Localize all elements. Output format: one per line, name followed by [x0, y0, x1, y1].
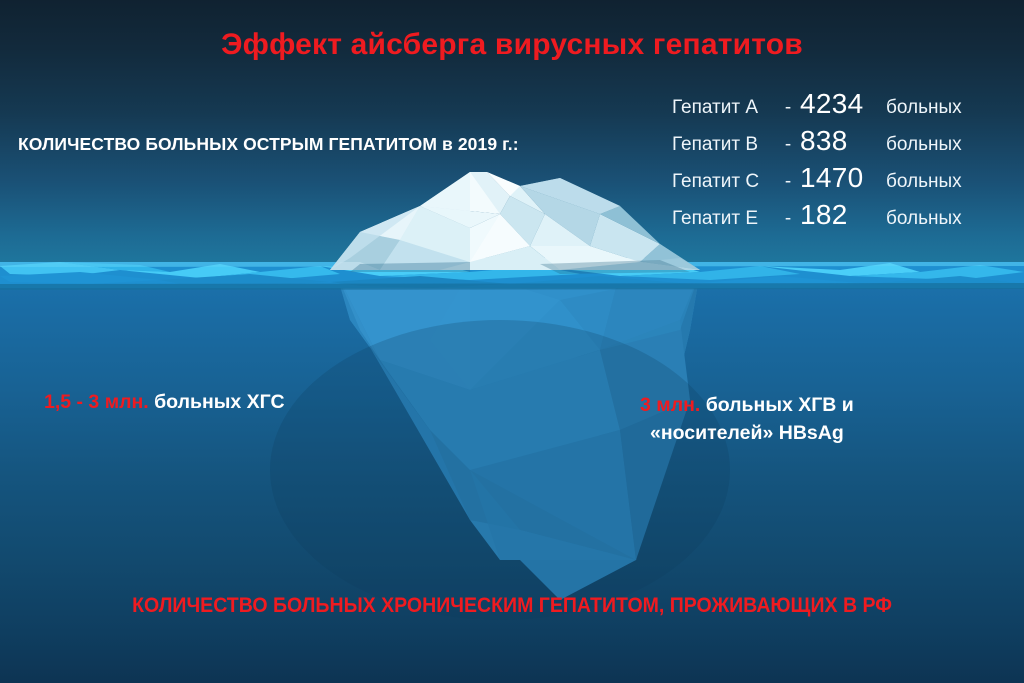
slide-root: Эффект айсберга вирусных гепатитов КОЛИЧ… — [0, 0, 1024, 683]
stat-dash: - — [776, 134, 800, 156]
chb-highlight: 3 млн. — [640, 394, 700, 416]
stat-unit: больных — [886, 97, 962, 119]
stat-dash: - — [776, 208, 800, 230]
chb-text-line2: «носителей» HBsAg — [640, 419, 854, 447]
iceberg-tip — [330, 172, 700, 274]
chc-highlight: 1,5 - 3 млн. — [44, 391, 149, 413]
stat-name: Гепатит А — [672, 97, 776, 119]
stat-row-hepatitis-e: Гепатит Е - 182 больных — [672, 199, 1012, 236]
stat-unit: больных — [886, 208, 962, 230]
stat-value: 182 — [800, 199, 886, 231]
stat-row-hepatitis-a: Гепатит А - 4234 больных — [672, 88, 1012, 125]
acute-hepatitis-label: КОЛИЧЕСТВО БОЛЬНЫХ ОСТРЫМ ГЕПАТИТОМ в 20… — [18, 134, 519, 155]
page-title: Эффект айсберга вирусных гепатитов — [0, 28, 1024, 62]
chronic-hepatitis-b-note: 3 млн. больных ХГВ и «носителей» HBsAg — [640, 391, 854, 447]
stat-unit: больных — [886, 134, 962, 156]
stat-row-hepatitis-b: Гепатит В - 838 больных — [672, 125, 1012, 162]
chc-text: больных ХГС — [149, 391, 285, 413]
stat-unit: больных — [886, 171, 962, 193]
acute-hepatitis-stats-list: Гепатит А - 4234 больных Гепатит В - 838… — [672, 88, 1012, 236]
stat-name: Гепатит С — [672, 171, 776, 193]
stat-name: Гепатит В — [672, 134, 776, 156]
stat-name: Гепатит Е — [672, 208, 776, 230]
stat-value: 1470 — [800, 162, 886, 194]
chb-text: больных ХГВ и — [700, 394, 854, 416]
chronic-hepatitis-c-note: 1,5 - 3 млн. больных ХГС — [44, 391, 285, 414]
bottom-caption: КОЛИЧЕСТВО БОЛЬНЫХ ХРОНИЧЕСКИМ ГЕПАТИТОМ… — [36, 594, 988, 618]
stat-dash: - — [776, 171, 800, 193]
stat-value: 4234 — [800, 88, 886, 120]
stat-row-hepatitis-c: Гепатит С - 1470 больных — [672, 162, 1012, 199]
stat-value: 838 — [800, 125, 886, 157]
stat-dash: - — [776, 97, 800, 119]
